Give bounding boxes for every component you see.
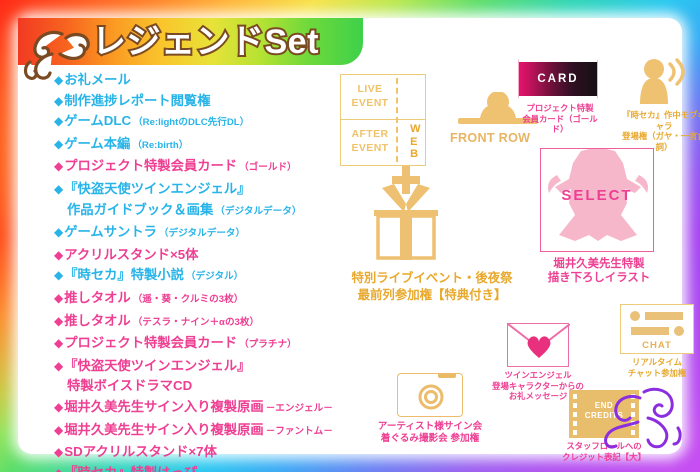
photo-caption: アーティスト様サイン会 着ぐるみ撮影会 参加権 xyxy=(368,421,492,445)
list-item-label: 『時セカ』特製小説 xyxy=(64,265,184,286)
member-card-group: CARD プロジェクト特製 会員カード（ゴールド） xyxy=(518,58,602,135)
diamond-bullet-icon: ◆ xyxy=(54,356,63,377)
page-title: レジェンドSet xyxy=(92,20,319,64)
list-item: 作品ガイドブック＆画集（デジタルデータ） xyxy=(54,200,364,223)
chat-caption: リアルタイム チャット参加権 xyxy=(613,357,700,378)
list-item-label: 制作進捗レポート閲覧権 xyxy=(64,91,210,112)
gift-box-icon xyxy=(366,166,446,262)
leaf-flourish-icon xyxy=(22,24,94,86)
diamond-bullet-icon: ◆ xyxy=(54,288,63,309)
list-item: ◆『時セカ』特製小説（デジタル） xyxy=(54,265,364,288)
credit-card-icon: CARD xyxy=(518,58,598,100)
diamond-bullet-icon: ◆ xyxy=(54,397,63,418)
diamond-bullet-icon: ◆ xyxy=(54,245,63,266)
diamond-bullet-icon: ◆ xyxy=(54,111,63,132)
list-item: ◆ゲームサントラ（デジタルデータ） xyxy=(54,222,364,245)
diamond-bullet-icon: ◆ xyxy=(54,134,63,155)
list-item-label: ゲーム本編 xyxy=(64,134,130,155)
list-item-label: 推しタオル xyxy=(64,311,130,332)
list-item: ◆推しタオル（遥・葵・クルミの3枚） xyxy=(54,288,364,311)
list-item: ◆『快盗天使ツインエンジェル』 xyxy=(54,356,364,377)
list-item-label: 『快盗天使ツインエンジェル』 xyxy=(64,179,250,200)
list-item: ◆制作進捗レポート閲覧権 xyxy=(54,91,364,112)
list-item-label: 『時セカ』特製はっぴ xyxy=(64,463,197,472)
chat-label: CHAT xyxy=(621,340,693,351)
list-item-label: 推しタオル xyxy=(64,288,130,309)
list-item-note: （プラチナ） xyxy=(239,335,297,356)
list-item-label: ゲームDLC xyxy=(64,111,131,132)
list-item-label: 堀井久美先生サイン入り複製原画 xyxy=(64,420,263,441)
leaf-flourish-bottom-icon xyxy=(592,378,682,456)
list-item: ◆ゲーム本編（Re:birth） xyxy=(54,134,364,157)
diamond-bullet-icon: ◆ xyxy=(54,91,63,112)
list-item-note: （デジタル） xyxy=(186,267,243,288)
illustration-caption: 堀井久美先生特製 描き下ろしイラスト xyxy=(540,257,658,285)
list-item: ◆堀井久美先生サイン入り複製原画－エンジェル－ xyxy=(54,397,364,420)
envelope-heart-icon xyxy=(507,323,569,367)
list-item-label: プロジェクト特製会員カード xyxy=(64,333,237,354)
list-item-note: （遥・葵・クルミの3枚） xyxy=(133,290,244,311)
diamond-bullet-icon: ◆ xyxy=(54,265,63,286)
list-item-note: （テスラ・ナイン＋αの3枚） xyxy=(133,313,259,334)
benefits-list: ◆お礼メール ◆制作進捗レポート閲覧権 ◆ゲームDLC（Re:lightのDLC… xyxy=(54,70,364,472)
member-card-caption: プロジェクト特製 会員カード（ゴールド） xyxy=(518,103,602,135)
diamond-bullet-icon: ◆ xyxy=(54,179,63,200)
select-label: SELECT xyxy=(541,187,653,204)
diamond-bullet-icon: ◆ xyxy=(54,333,63,354)
list-item-label: 堀井久美先生サイン入り複製原画 xyxy=(64,397,263,418)
list-item-label: アクリルスタンド×5体 xyxy=(64,245,198,266)
list-item-note: （Re:lightのDLC先行DL） xyxy=(133,113,249,134)
diamond-bullet-icon: ◆ xyxy=(54,222,63,243)
ticket-perforation xyxy=(396,78,398,162)
poster-frame: レジェンドSet ◆お礼メール ◆制作進捗レポート閲覧権 xyxy=(0,0,700,472)
diamond-bullet-icon: ◆ xyxy=(54,311,63,332)
list-item-note: （デジタルデータ） xyxy=(159,224,245,245)
list-item: ◆プロジェクト特製会員カード（プラチナ） xyxy=(54,333,364,356)
diamond-bullet-icon: ◆ xyxy=(54,420,63,441)
voice-cameo-caption: 『時セカ』作中モブキャラ 登場権（ガヤ・一言台詞） xyxy=(618,110,700,152)
chat-bubble-icon: CHAT xyxy=(620,304,694,354)
camera-body xyxy=(398,374,464,418)
list-item: ◆『時セカ』特製はっぴ xyxy=(54,463,364,472)
speaking-person-icon xyxy=(618,58,700,104)
list-item-note: （ゴールド） xyxy=(239,158,297,179)
ticket-web-label: W E B xyxy=(410,123,421,161)
list-item-label: 『快盗天使ツインエンジェル』 xyxy=(64,356,250,377)
list-item: ◆お礼メール xyxy=(54,70,364,91)
poster-inner-panel: レジェンドSet ◆お礼メール ◆制作進捗レポート閲覧権 xyxy=(18,18,682,454)
list-item-label: 特製ボイスドラマCD xyxy=(67,376,192,397)
character-silhouette-icon: SELECT xyxy=(540,148,654,252)
diamond-bullet-icon: ◆ xyxy=(54,463,63,472)
list-item-note: －エンジェル－ xyxy=(266,399,333,420)
card-label: CARD xyxy=(537,73,578,85)
list-item-label: SDアクリルスタンド×7体 xyxy=(64,442,217,463)
list-item: ◆SDアクリルスタンド×7体 xyxy=(54,442,364,463)
photo-group: アーティスト様サイン会 着ぐるみ撮影会 参加権 xyxy=(368,373,492,445)
illustration-group: SELECT 堀井久美先生特製 描き下ろしイラスト xyxy=(540,148,658,285)
list-item: ◆『快盗天使ツインエンジェル』 xyxy=(54,179,364,200)
list-item: ◆プロジェクト特製会員カード（ゴールド） xyxy=(54,156,364,179)
voice-cameo-group: 『時セカ』作中モブキャラ 登場権（ガヤ・一言台詞） xyxy=(618,58,700,152)
list-item-label: 作品ガイドブック＆画集 xyxy=(67,200,213,221)
camera-icon xyxy=(397,373,463,417)
list-item: ◆堀井久美先生サイン入り複製原画－ファントム－ xyxy=(54,420,364,443)
list-item-note: （Re:birth） xyxy=(132,136,188,157)
list-item-label: プロジェクト特製会員カード xyxy=(64,156,237,177)
list-item: ◆ゲームDLC（Re:lightのDLC先行DL） xyxy=(54,111,364,134)
list-item-note: （デジタルデータ） xyxy=(215,202,301,223)
diamond-bullet-icon: ◆ xyxy=(54,156,63,177)
chat-group: CHAT リアルタイム チャット参加権 xyxy=(613,304,700,378)
list-item: 特製ボイスドラマCD xyxy=(54,376,364,397)
envelope-heart xyxy=(508,324,570,368)
list-item: ◆アクリルスタンド×5体 xyxy=(54,245,364,266)
diamond-bullet-icon: ◆ xyxy=(54,442,63,463)
list-item: ◆推しタオル（テスラ・ナイン＋αの3枚） xyxy=(54,311,364,334)
list-item-note: －ファントム－ xyxy=(266,422,333,443)
list-item-label: ゲームサントラ xyxy=(64,222,157,243)
